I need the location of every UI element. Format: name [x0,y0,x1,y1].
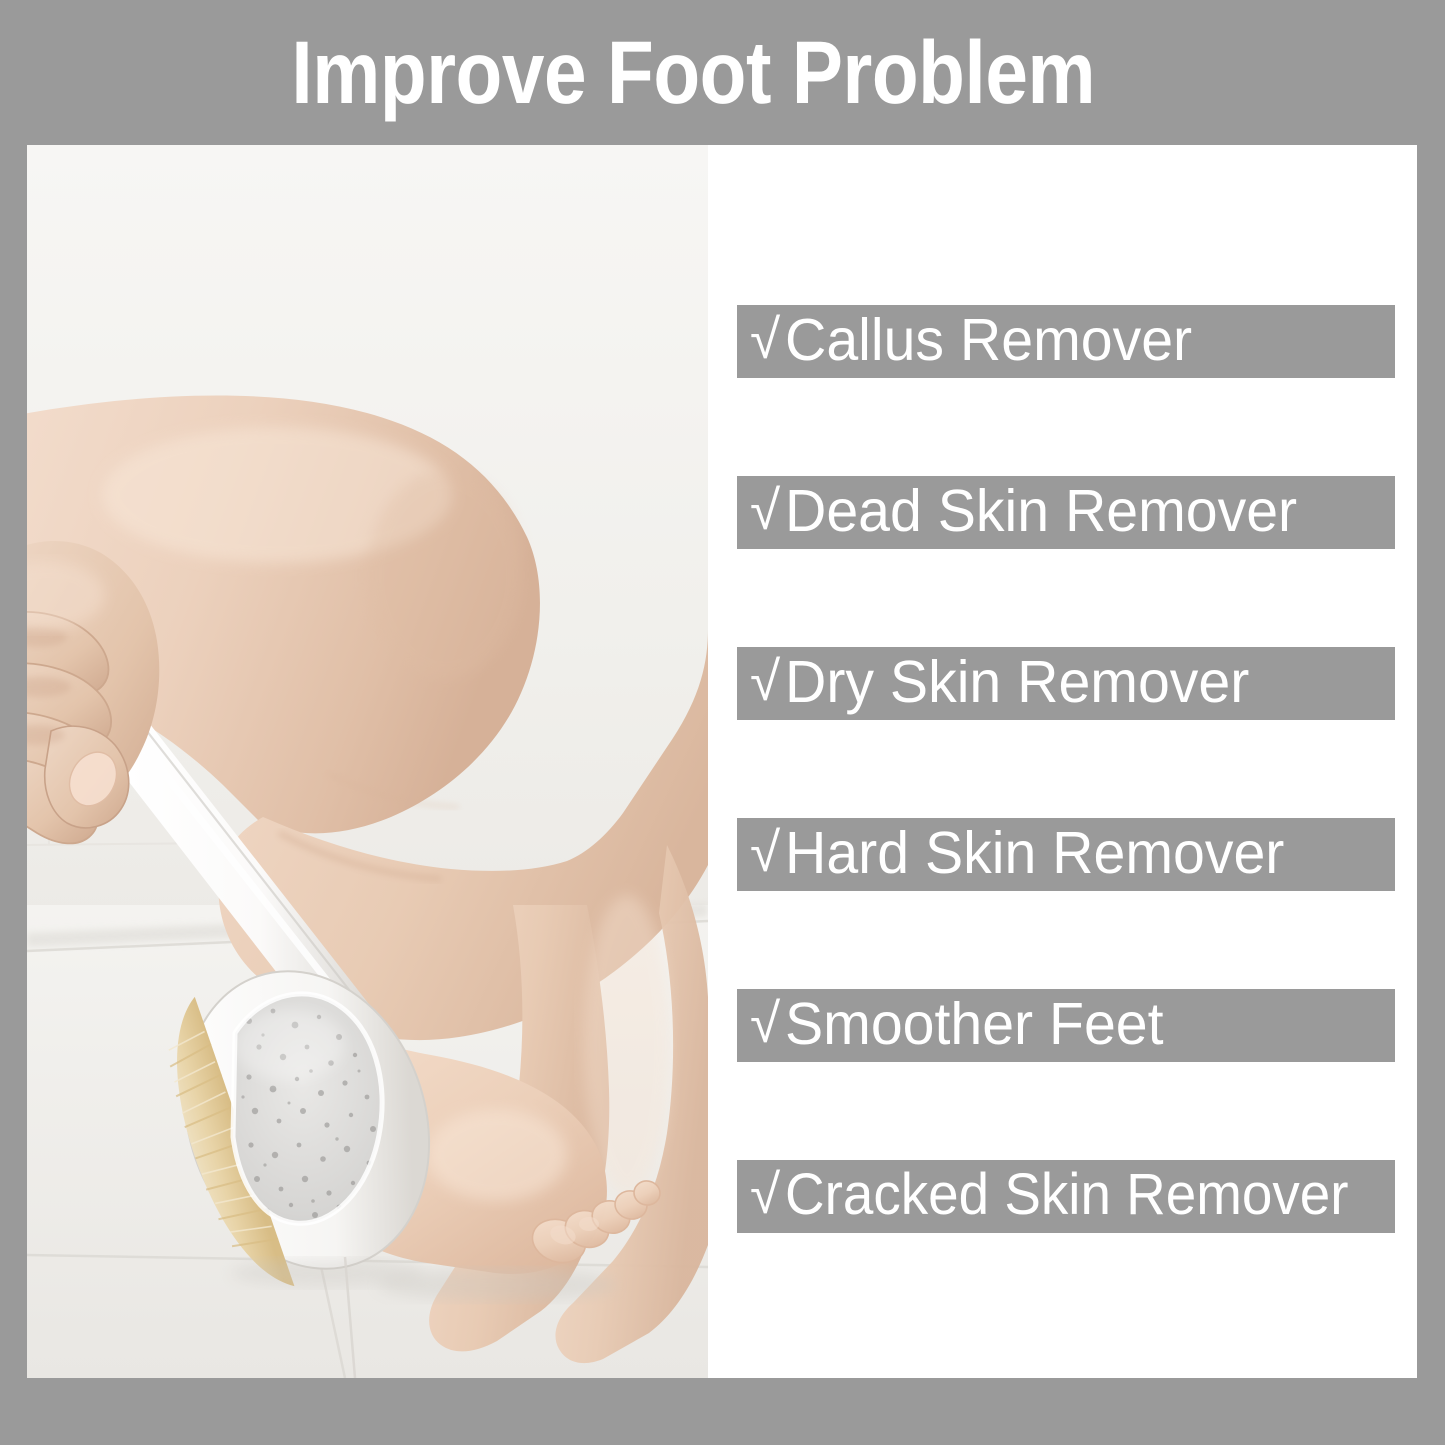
check-icon: √ [750,825,780,880]
feature-label: Dry Skin Remover [785,653,1249,712]
product-infographic: Improve Foot Problem [0,0,1445,1445]
page-title: Improve Foot Problem [292,28,1096,117]
feature-list: √ Callus Remover √ Dead Skin Remover √ D… [708,145,1417,1378]
feature-label: Dead Skin Remover [785,482,1297,541]
feature-item-hard-skin-remover: √ Hard Skin Remover [737,818,1395,891]
check-icon: √ [750,1167,780,1222]
check-icon: √ [750,483,780,538]
content-frame: √ Callus Remover √ Dead Skin Remover √ D… [27,145,1417,1378]
check-icon: √ [750,996,780,1051]
feature-label: Callus Remover [785,311,1192,370]
feature-item-callus-remover: √ Callus Remover [737,305,1395,378]
product-photo-illustration [27,145,708,1378]
feature-item-dry-skin-remover: √ Dry Skin Remover [737,647,1395,720]
feature-label: Cracked Skin Remover [785,1166,1349,1224]
check-icon: √ [750,654,780,709]
feature-item-dead-skin-remover: √ Dead Skin Remover [737,476,1395,549]
feature-label: Hard Skin Remover [785,824,1284,883]
feature-label: Smoother Feet [785,995,1164,1054]
feature-item-cracked-skin-remover: √ Cracked Skin Remover [737,1160,1395,1233]
feature-item-smoother-feet: √ Smoother Feet [737,989,1395,1062]
check-icon: √ [750,312,780,367]
product-photo [27,145,708,1378]
title-banner: Improve Foot Problem [0,0,1445,145]
